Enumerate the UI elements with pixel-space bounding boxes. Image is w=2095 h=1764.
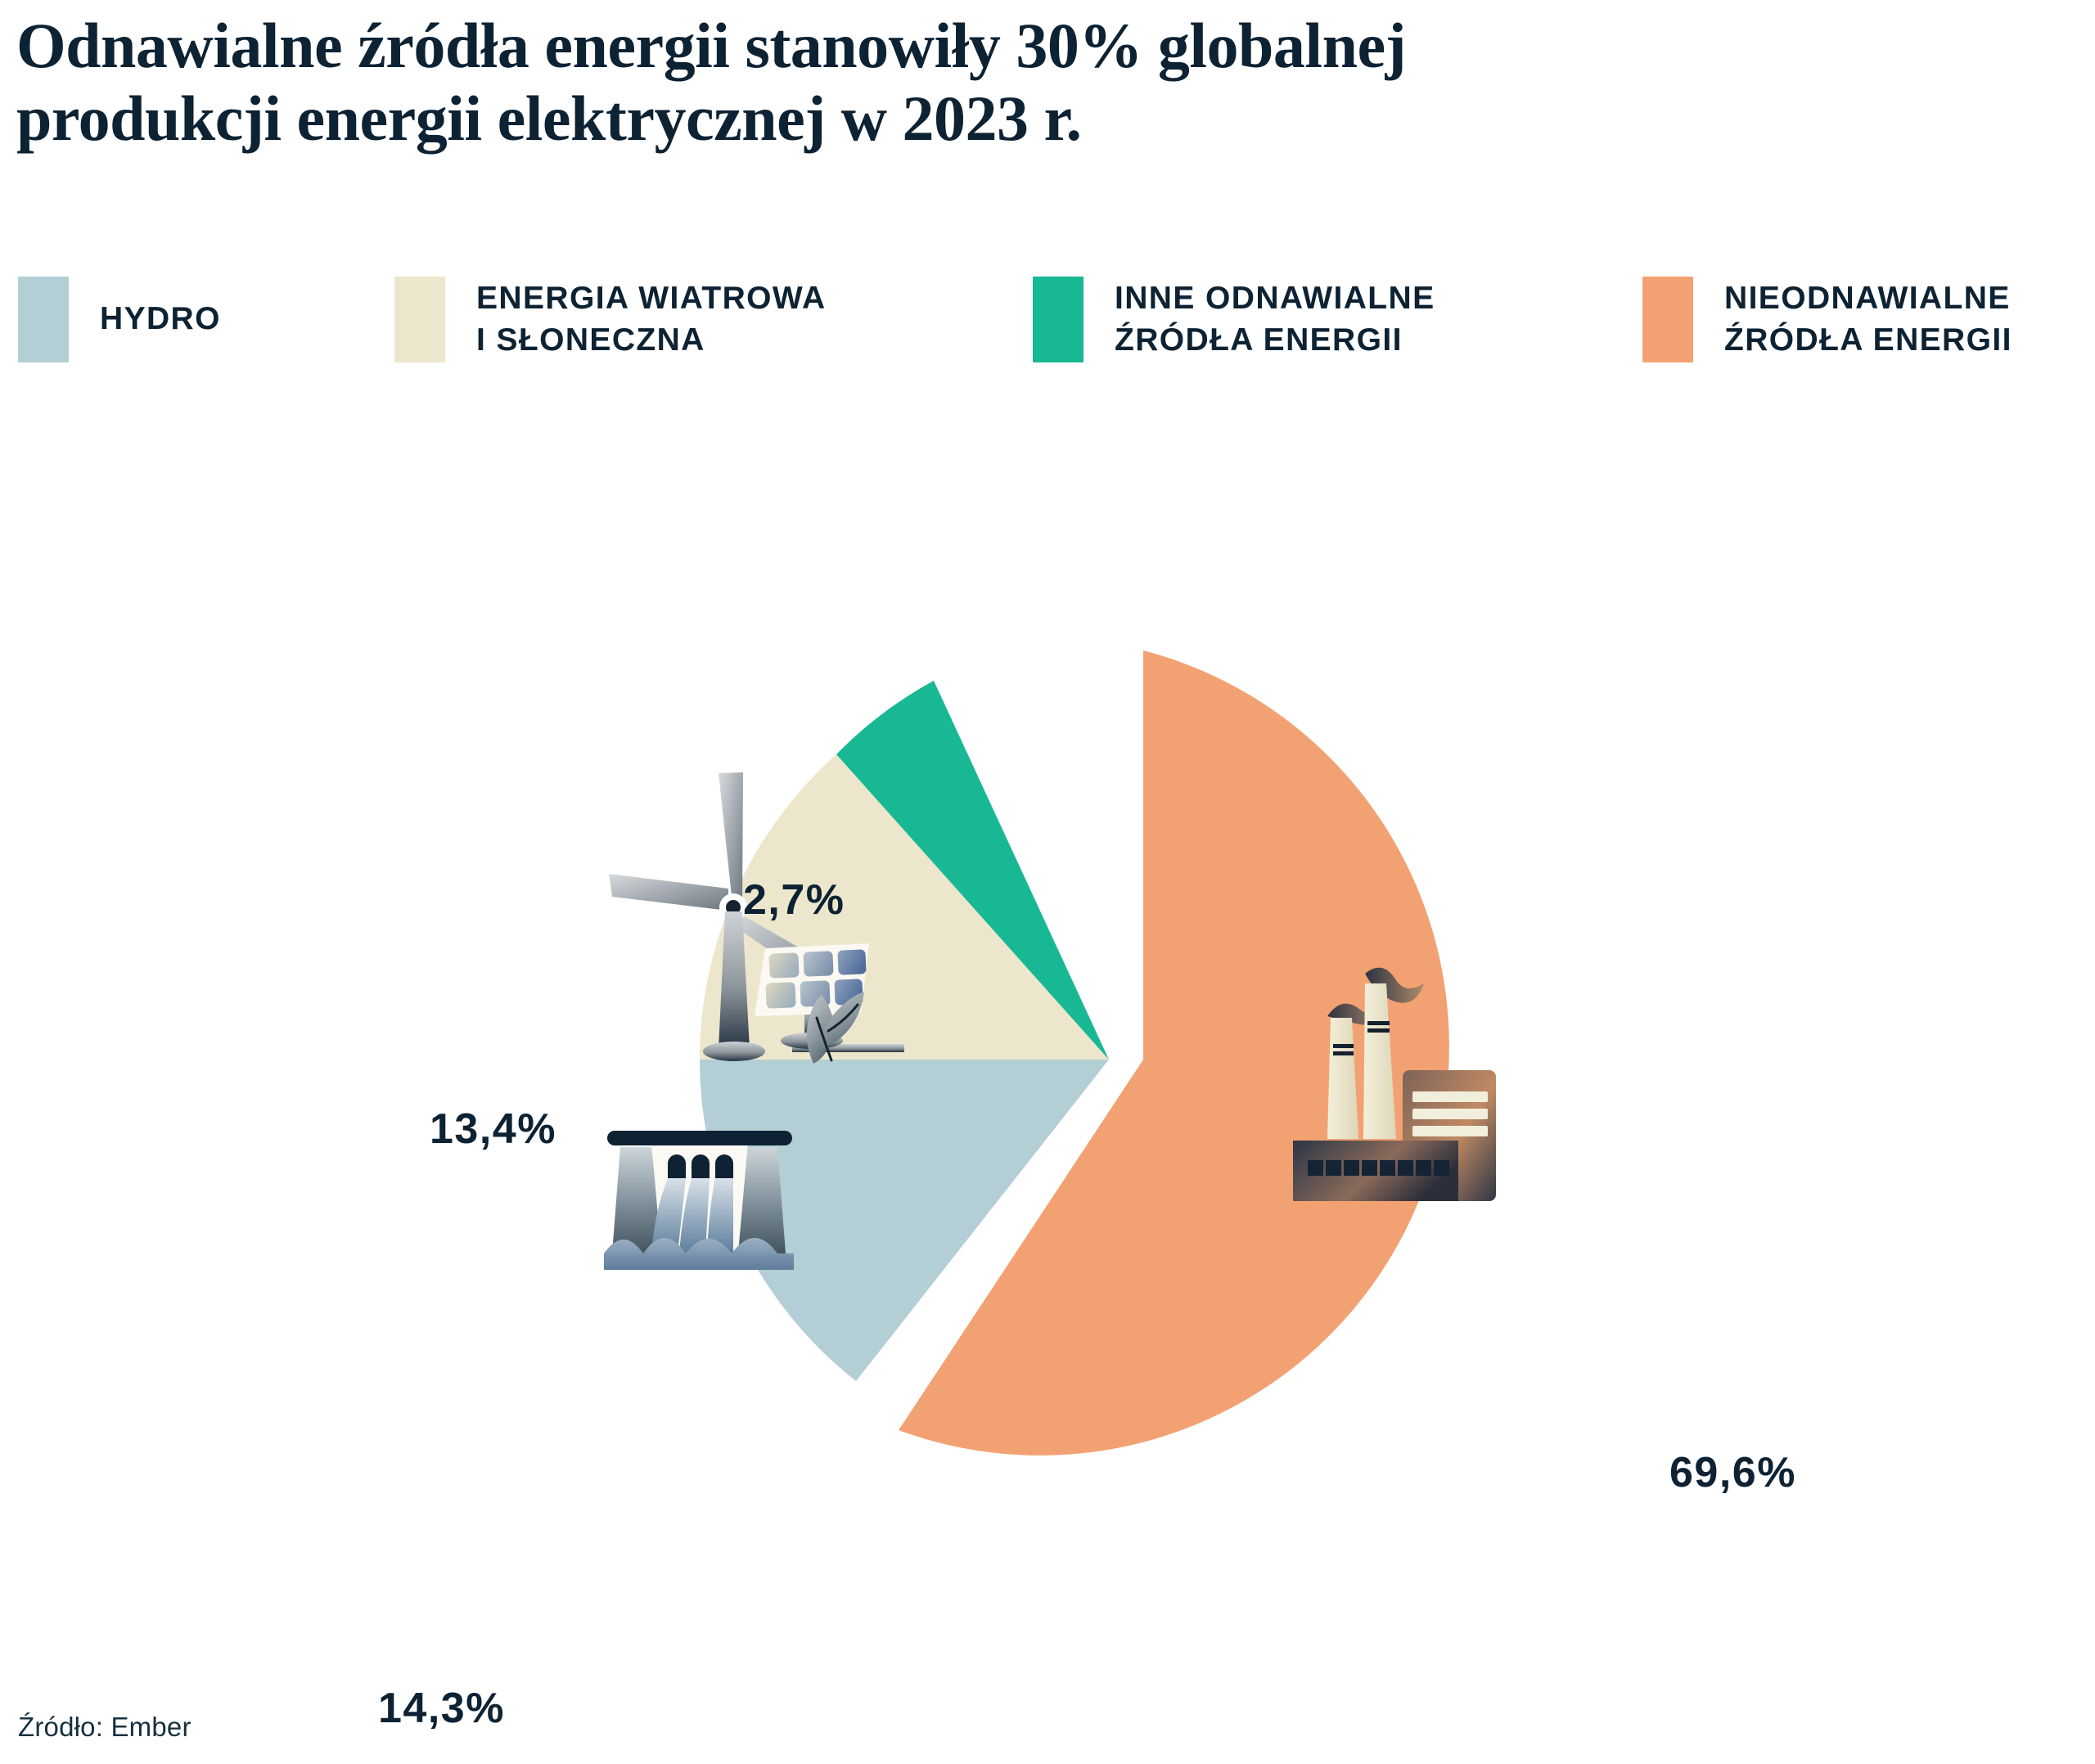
legend-item-non-renewable[interactable]: NIEODNAWIALNE ŹRÓDŁA ENERGII bbox=[1642, 270, 2012, 368]
source-note: Źródło: Ember bbox=[18, 1712, 191, 1743]
legend-label-wind-solar: ENERGIA WIATROWA I SŁONECZNA bbox=[476, 277, 827, 362]
legend-label-non-renewable: NIEODNAWIALNE ŹRÓDŁA ENERGII bbox=[1724, 277, 2012, 362]
data-label-other-renewables: 2,7% bbox=[743, 875, 845, 925]
legend-item-wind-solar[interactable]: ENERGIA WIATROWA I SŁONECZNA bbox=[394, 270, 827, 368]
data-label-hydro: 14,3% bbox=[378, 1684, 505, 1733]
legend-item-other-renewables[interactable]: INNE ODNAWIALNE ŹRÓDŁA ENERGII bbox=[1033, 270, 1435, 368]
legend-swatch-hydro-icon bbox=[18, 277, 69, 362]
chart-legend: HYDRO ENERGIA WIATROWA I SŁONECZNA INNE … bbox=[18, 270, 2080, 368]
data-label-non-renewable: 69,6% bbox=[1669, 1448, 1796, 1497]
legend-item-hydro[interactable]: HYDRO bbox=[18, 270, 221, 368]
legend-label-other-renewables: INNE ODNAWIALNE ŹRÓDŁA ENERGII bbox=[1115, 277, 1435, 362]
legend-swatch-wind-solar-icon bbox=[394, 277, 445, 362]
pie-chart: 2,7% 13,4% 14,3% 69,6% bbox=[0, 385, 2095, 1661]
page-title: Odnawialne źródła energii stanowiły 30% … bbox=[16, 10, 2079, 155]
legend-swatch-non-renewable-icon bbox=[1642, 277, 1693, 362]
hydro-dam-icon bbox=[604, 1131, 794, 1270]
legend-swatch-other-renewables-icon bbox=[1033, 277, 1084, 362]
legend-label-hydro: HYDRO bbox=[100, 298, 221, 340]
data-label-wind-solar: 13,4% bbox=[430, 1105, 556, 1154]
